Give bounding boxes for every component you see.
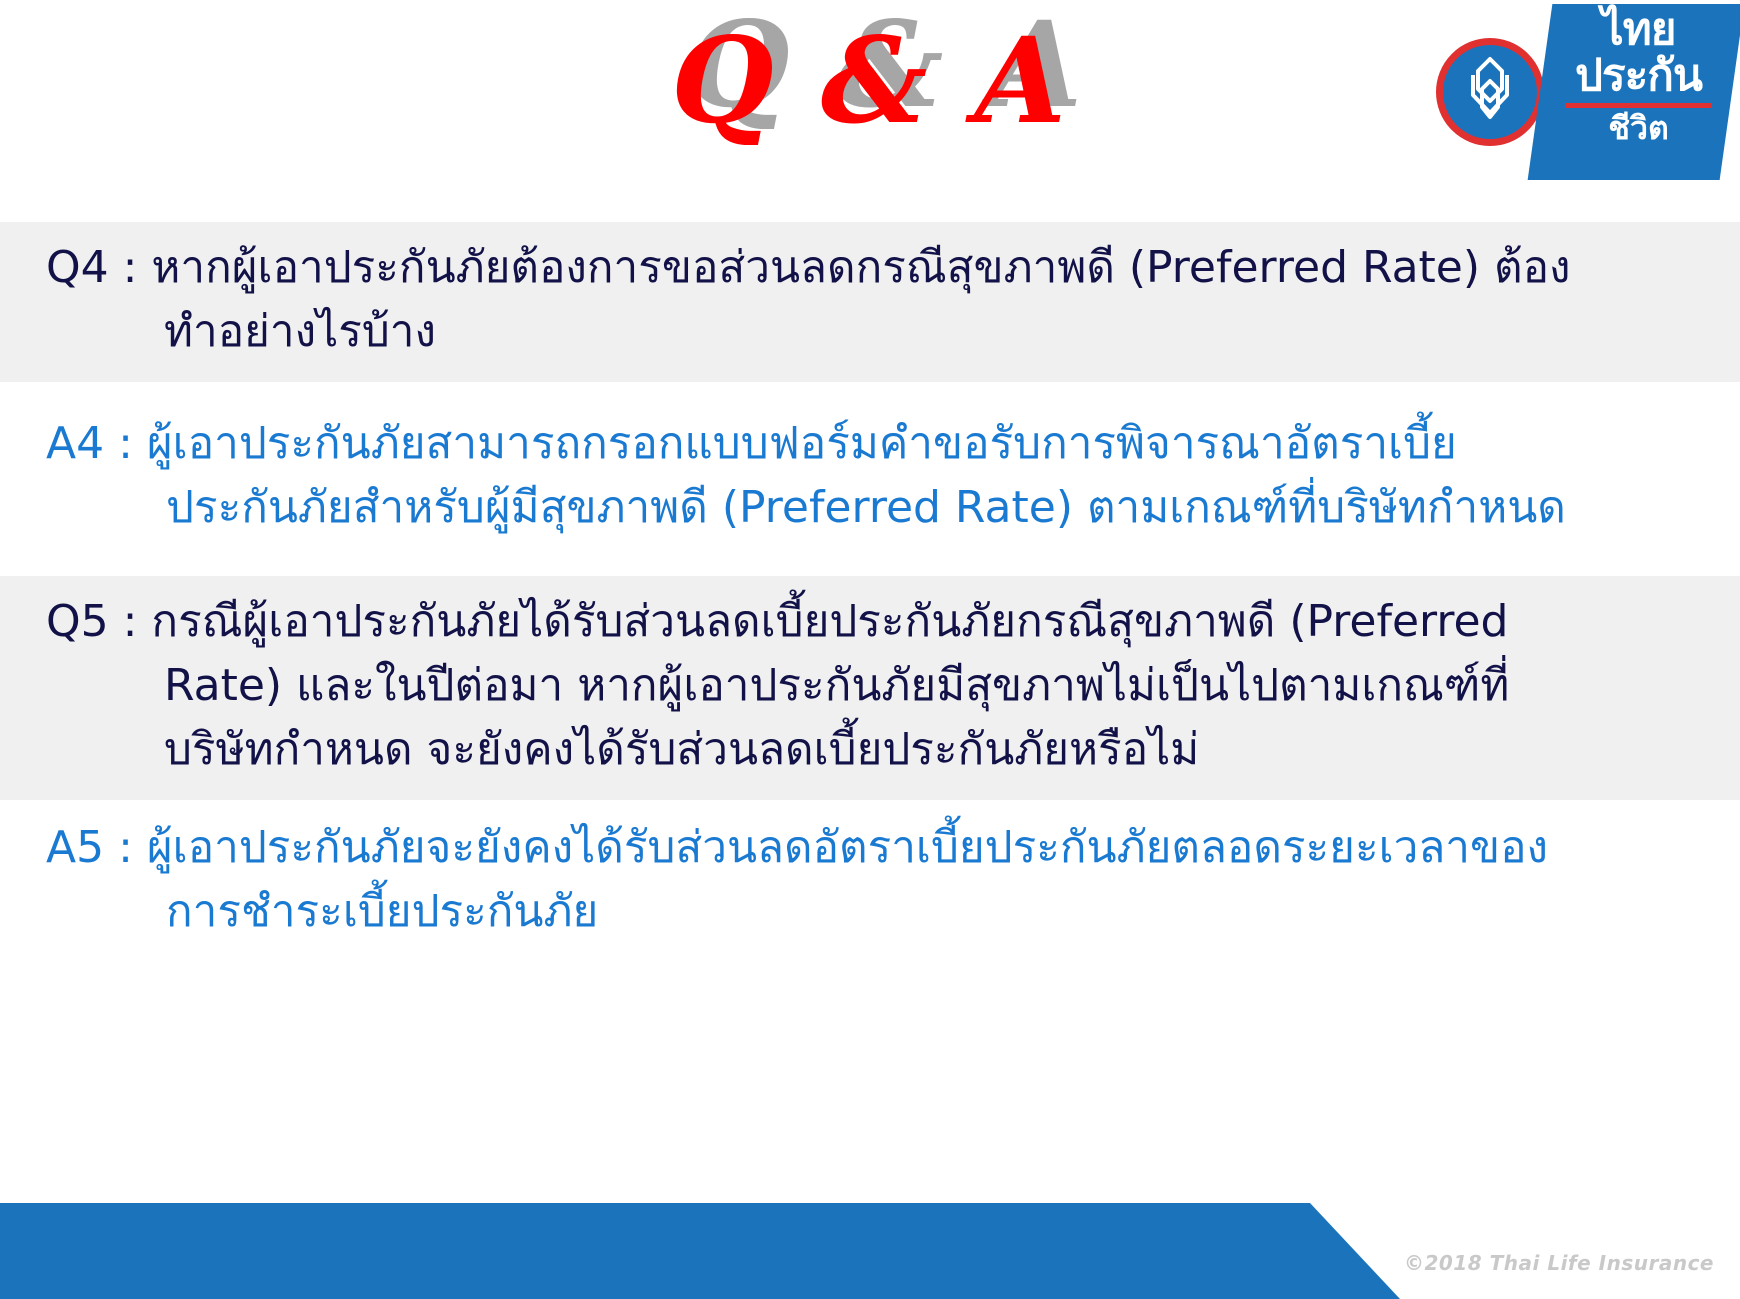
logo-emblem-icon [1459, 55, 1521, 129]
qa-line: Rate) และในปีต่อมา หากผู้เอาประกันภัยมีส… [46, 654, 1706, 718]
logo-circle-icon [1436, 38, 1544, 146]
title-shadow-text: Q & A [687, 0, 1085, 140]
qa-line: การชำระเบี้ยประกันภัย [46, 880, 1706, 944]
qa-block-q4: Q4 : หากผู้เอาประกันภัยต้องการขอส่วนลดกร… [0, 222, 1740, 382]
footer: ©2018 Thai Life Insurance [0, 1203, 1740, 1299]
copyright-text: ©2018 Thai Life Insurance [1404, 1251, 1714, 1275]
slide-root: Q & A Q & A ไทย ประกัน ชีวิต [0, 0, 1740, 1299]
qa-line: ประกันภัยสำหรับผู้มีสุขภาพดี (Preferred … [46, 476, 1706, 540]
qa-block-a5: A5 : ผู้เอาประกันภัยจะยังคงได้รับส่วนลดอ… [0, 802, 1740, 962]
qa-block-a4: A4 : ผู้เอาประกันภัยสามารถกรอกแบบฟอร์มคำ… [0, 398, 1740, 558]
logo-text-line1: ไทย [1543, 8, 1735, 52]
logo-divider [1566, 103, 1712, 108]
qa-list: Q4 : หากผู้เอาประกันภัยต้องการขอส่วนลดกร… [0, 222, 1740, 962]
logo-text-line3: ชีวิต [1543, 112, 1735, 144]
qa-line: บริษัทกำหนด จะยังคงได้รับส่วนลดเบี้ยประก… [46, 718, 1706, 782]
qa-line: A5 : ผู้เอาประกันภัยจะยังคงได้รับส่วนลดอ… [46, 816, 1706, 880]
qa-line: A4 : ผู้เอาประกันภัยสามารถกรอกแบบฟอร์มคำ… [46, 412, 1706, 476]
qa-line: ทำอย่างไรบ้าง [46, 300, 1706, 364]
qa-line: Q5 : กรณีผู้เอาประกันภัยได้รับส่วนลดเบี้… [46, 590, 1706, 654]
logo-wordmark-panel: ไทย ประกัน ชีวิต [1528, 4, 1740, 180]
thai-life-insurance-logo: ไทย ประกัน ชีวิต [1380, 2, 1732, 178]
footer-bar [0, 1203, 1400, 1299]
qa-block-q5: Q5 : กรณีผู้เอาประกันภัยได้รับส่วนลดเบี้… [0, 576, 1740, 800]
logo-text-line2: ประกัน [1543, 54, 1735, 98]
qa-line: Q4 : หากผู้เอาประกันภัยต้องการขอส่วนลดกร… [46, 236, 1706, 300]
title-text: Q & A [671, 11, 1069, 150]
block-spacer [0, 382, 1740, 398]
block-spacer [0, 558, 1740, 576]
